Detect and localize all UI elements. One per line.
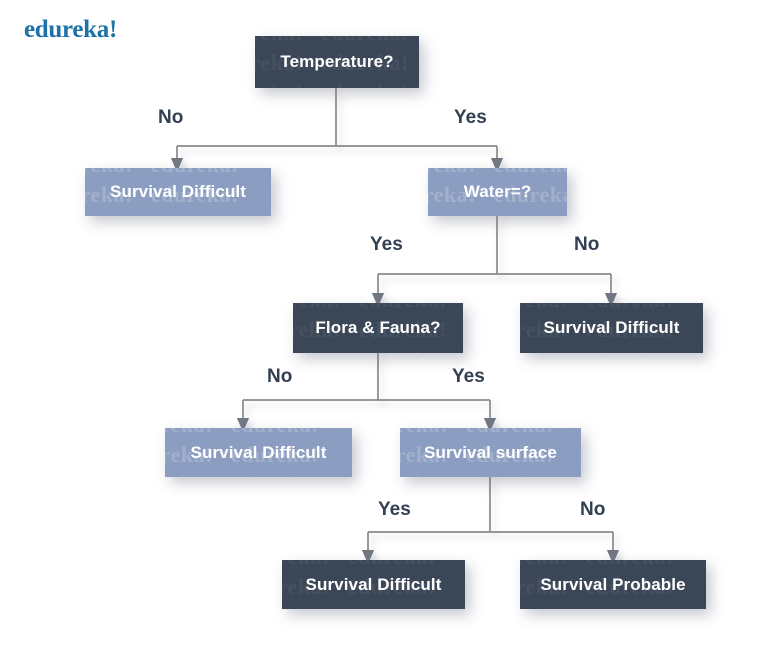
node-label: Flora & Fauna? <box>315 318 440 338</box>
edge-label-flora-yes: Yes <box>452 366 485 388</box>
edge-label-surface-no: No <box>580 499 605 521</box>
node-survival-surface[interactable]: edureka! edureka! edureka! edureka! edur… <box>400 428 581 477</box>
node-survival-difficult-4[interactable]: edureka! edureka! edureka! edureka! edur… <box>282 560 465 609</box>
node-flora-fauna[interactable]: edureka! edureka! edureka! edureka! edur… <box>293 303 463 353</box>
decision-tree-diagram: edureka! <box>0 0 768 649</box>
node-label: Survival Difficult <box>110 182 246 202</box>
node-water[interactable]: edureka! edureka! edureka! edureka! edur… <box>428 168 567 216</box>
edge-label-flora-no: No <box>267 366 292 388</box>
node-temperature[interactable]: edureka! edureka! edureka! edureka! edur… <box>255 36 419 88</box>
edge-temperature-branch <box>177 88 497 160</box>
node-label: Survival Difficult <box>544 318 680 338</box>
edge-label-water-yes: Yes <box>370 234 403 256</box>
node-label: Survival Difficult <box>306 575 442 595</box>
node-label: Survival Difficult <box>191 443 327 463</box>
node-survival-difficult-3[interactable]: edureka! edureka! edureka! edureka! edur… <box>165 428 352 477</box>
node-survival-difficult-1[interactable]: edureka! edureka! edureka! edureka! edur… <box>85 168 271 216</box>
edge-label-temperature-no: No <box>158 107 183 129</box>
node-label: Survival surface <box>424 443 557 463</box>
edge-label-water-no: No <box>574 234 599 256</box>
node-survival-probable[interactable]: edureka! edureka! edureka! edureka! edur… <box>520 560 706 609</box>
node-survival-difficult-2[interactable]: edureka! edureka! edureka! edureka! edur… <box>520 303 703 353</box>
node-label: Survival Probable <box>540 575 685 595</box>
node-label: Temperature? <box>280 52 393 72</box>
node-label: Water=? <box>464 182 532 202</box>
edge-label-temperature-yes: Yes <box>454 107 487 129</box>
edge-label-surface-yes: Yes <box>378 499 411 521</box>
